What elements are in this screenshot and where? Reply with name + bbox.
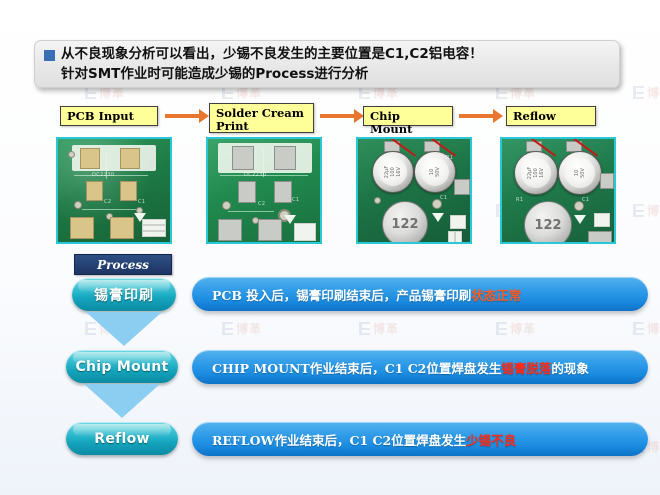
pcb4-silk-c1: C1 <box>582 197 589 203</box>
process-arrow-1-icon <box>86 312 162 346</box>
defect-pointer-c2 <box>388 137 422 155</box>
pcb-photo-pcb-input: DC2230 C2 C1 <box>56 137 172 244</box>
watermark-logo-icon <box>633 322 644 335</box>
coil-label-2: 122 <box>534 218 561 233</box>
cap2b-line2: 50V <box>580 168 586 178</box>
watermark-label: 博革 <box>236 320 262 337</box>
callout-line-2: 针对SMT作业时可能造成少锡的Process进行分析 <box>61 64 613 84</box>
defect-pointer-c1 <box>428 137 462 155</box>
process-step-label-2: Chip Mount <box>75 359 168 375</box>
pcb2-silk-c2: C2 <box>258 201 265 207</box>
coil-label: 122 <box>391 217 418 232</box>
process-step-label-3: Reflow <box>94 431 150 447</box>
status-banner-solder-print[interactable]: PCB 投入后，锡膏印刷结束后，产品锡膏印刷状态正常 <box>192 277 648 311</box>
stage-label-line-1: Solder Cream <box>216 106 304 120</box>
watermark-label: 博革 <box>373 320 399 337</box>
process-step-reflow[interactable]: Reflow <box>66 422 178 455</box>
process-flow-row: PCB Input Solder Cream Print Chip Mount … <box>0 104 660 249</box>
stage-label-line-2: Print <box>216 119 249 133</box>
cap2-line2: 50V <box>435 167 441 177</box>
watermark-tile: 博革 <box>496 320 536 337</box>
stage-label-chip-mount[interactable]: Chip Mount <box>363 106 453 126</box>
status-banner-reflow[interactable]: REFLOW作业结束后，C1 C2位置焊盘发生少锡不良 <box>192 422 648 456</box>
pcb-silk-ic: DC2230 <box>92 172 114 178</box>
callout-bullet-icon <box>44 50 55 61</box>
status-banner-chip-mount[interactable]: CHIP MOUNT作业结束后，C1 C2位置焊盘发生锡膏脱落的现象 <box>192 350 648 384</box>
stage-label-pcb-input[interactable]: PCB Input <box>60 106 158 126</box>
pcb2-silk-ic: DC2230 <box>244 172 266 178</box>
cap1b-line3: 16V <box>539 168 545 178</box>
pcb4-silk-r1: R1 <box>516 197 523 203</box>
watermark-logo-icon <box>222 322 233 335</box>
process-column: Process 锡膏印刷 Chip Mount Reflow <box>0 250 200 480</box>
cap1-line1: 22µF <box>384 166 390 178</box>
header-callout: 从不良现象分析可以看出，少锡不良发生的主要位置是C1,C2铝电容！ 针对SMT作… <box>34 40 620 88</box>
pcb-photo-chip-mount: 22µF10016V 1050V 122 R1 C1 <box>356 137 472 244</box>
banner-2-post: 的现象 <box>551 361 589 376</box>
watermark-logo-icon <box>496 322 507 335</box>
defect-pointer-c2-reflow <box>528 137 562 155</box>
banner-2-pre: CHIP MOUNT作业结束后，C1 C2位置焊盘发生 <box>212 361 501 376</box>
process-column-header: Process <box>74 254 172 275</box>
watermark-logo-icon <box>359 322 370 335</box>
process-header-label: Process <box>97 258 149 272</box>
banner-1-highlight: 状态正常 <box>471 288 521 303</box>
flow-arrow-3 <box>459 109 503 123</box>
cap1b-line2: 100 <box>533 168 539 178</box>
cap1-line2: 100 <box>390 167 396 177</box>
slide-canvas: 博革博革博革博革博革博革博革博革博革博革博革博革博革博革博革博革博革博革博革博革… <box>0 0 660 495</box>
process-step-label-1: 锡膏印刷 <box>94 285 154 305</box>
watermark-tile: 博革 <box>222 320 262 337</box>
watermark-tile: 博革 <box>633 84 660 101</box>
pcb-silk-c2: C2 <box>104 199 111 205</box>
banner-2-highlight: 锡膏脱落 <box>501 361 551 376</box>
flow-arrow-1 <box>165 109 209 123</box>
stage-label-reflow[interactable]: Reflow <box>506 106 596 126</box>
stage-label-solder-cream-print[interactable]: Solder Cream Print <box>209 103 314 133</box>
watermark-logo-icon <box>633 86 644 99</box>
banner-3-highlight: 少锡不良 <box>466 433 516 448</box>
pcb2-silk-c1: C1 <box>292 197 299 203</box>
pcb3-silk-c1: C1 <box>440 195 447 201</box>
watermark-label: 博革 <box>647 84 660 101</box>
cap1b-line1: 22µF <box>527 167 533 179</box>
pcb-silk-c1: C1 <box>138 199 145 205</box>
process-arrow-2-icon <box>84 384 160 418</box>
defect-pointer-c1-reflow <box>570 137 604 155</box>
process-step-chip-mount[interactable]: Chip Mount <box>66 350 178 383</box>
watermark-tile: 博革 <box>359 320 399 337</box>
banner-text-2: CHIP MOUNT作业结束后，C1 C2位置焊盘发生锡膏脱落的现象 <box>192 358 589 377</box>
pcb-photo-solder-cream-print: DC2230 C2 C1 <box>206 137 322 244</box>
banner-3-pre: REFLOW作业结束后，C1 C2位置焊盘发生 <box>212 433 466 448</box>
watermark-label: 博革 <box>647 438 660 455</box>
watermark-tile: 博革 <box>633 320 660 337</box>
process-step-solder-print[interactable]: 锡膏印刷 <box>72 278 176 311</box>
pcb-photo-reflow: 22µF10016V 1050V 122 R1 C1 <box>500 137 616 244</box>
flow-arrow-2 <box>320 109 364 123</box>
watermark-label: 博革 <box>647 320 660 337</box>
banner-text-1: PCB 投入后，锡膏印刷结束后，产品锡膏印刷状态正常 <box>192 285 521 304</box>
callout-text: 从不良现象分析可以看出，少锡不良发生的主要位置是C1,C2铝电容！ 针对SMT作… <box>61 44 613 84</box>
pcb3-silk-r1: R1 <box>446 155 453 161</box>
callout-line-1: 从不良现象分析可以看出，少锡不良发生的主要位置是C1,C2铝电容！ <box>61 44 613 64</box>
watermark-label: 博革 <box>510 320 536 337</box>
cap1-line3: 16V <box>396 167 402 177</box>
banner-1-pre: PCB 投入后，锡膏印刷结束后，产品锡膏印刷 <box>212 288 471 303</box>
banner-text-3: REFLOW作业结束后，C1 C2位置焊盘发生少锡不良 <box>192 430 516 449</box>
